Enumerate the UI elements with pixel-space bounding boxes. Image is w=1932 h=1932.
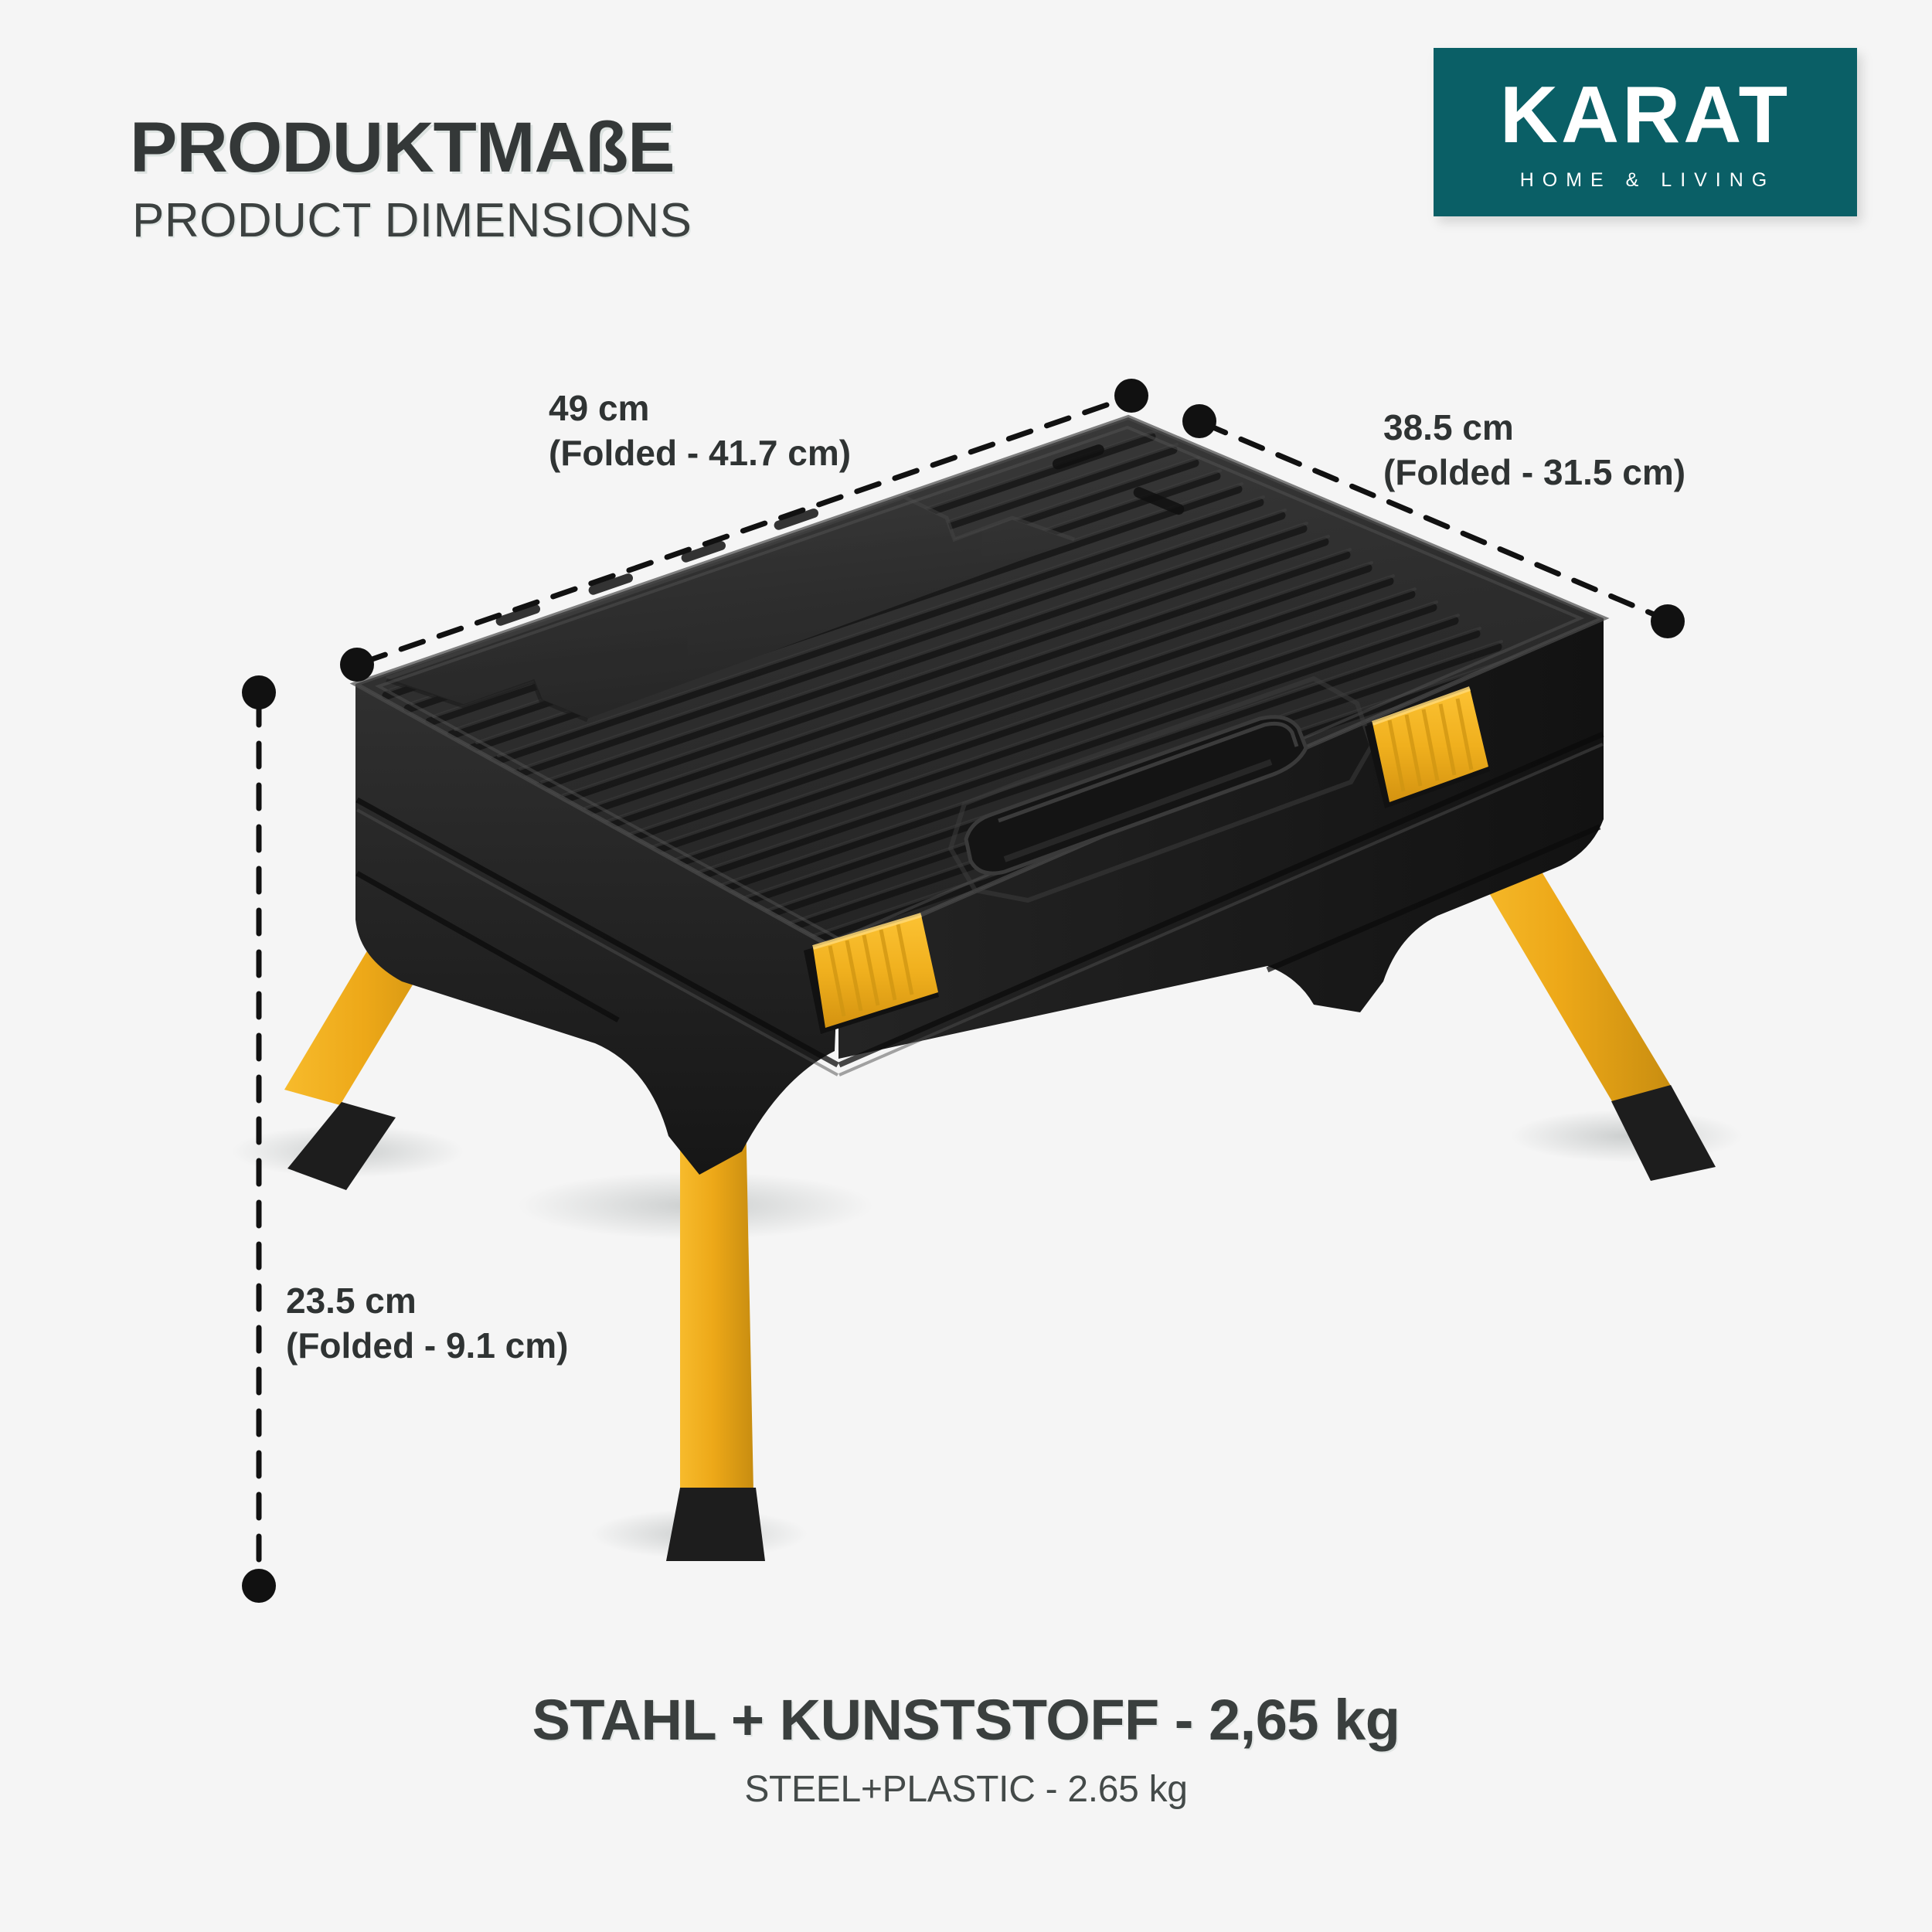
dimension-endpoint-dot: [340, 648, 374, 682]
material-english: STEEL+PLASTIC - 2.65 kg: [0, 1770, 1932, 1811]
top-platform: [355, 417, 1604, 951]
dimension-depth-value: 38.5 cm: [1383, 406, 1685, 451]
dimension-depth-folded: (Folded - 31.5 cm): [1383, 451, 1685, 495]
title-german: PRODUKTMAßE: [130, 112, 692, 183]
dimension-label-height: 23.5 cm (Folded - 9.1 cm): [286, 1279, 568, 1368]
dimension-endpoint-dot: [242, 1569, 276, 1603]
floor-shadow-right: [1511, 1110, 1743, 1162]
top-smooth-panel: [386, 498, 1074, 719]
dimension-height-folded: (Folded - 9.1 cm): [286, 1324, 568, 1369]
brand-name: KARAT: [1500, 75, 1791, 155]
infographic-canvas: PRODUKTMAßE PRODUCT DIMENSIONS KARAT HOM…: [0, 0, 1932, 1932]
dimension-endpoint-dot: [242, 675, 276, 709]
dimension-label-width: 49 cm (Folded - 41.7 cm): [549, 386, 851, 475]
header: PRODUKTMAßE PRODUCT DIMENSIONS KARAT HOM…: [0, 0, 1932, 255]
product-illustration: [0, 0, 1932, 1932]
body-side-face: [838, 618, 1604, 1059]
dimension-label-depth: 38.5 cm (Folded - 31.5 cm): [1383, 406, 1685, 495]
material-german: STAHL + KUNSTSTOFF - 2,65 kg: [0, 1689, 1932, 1751]
latch-front[interactable]: [804, 915, 939, 1034]
footer: STAHL + KUNSTSTOFF - 2,65 kg STEEL+PLAST…: [0, 1689, 1932, 1811]
body-seams: [357, 734, 1603, 1065]
dimension-endpoint-dot: [1114, 379, 1148, 413]
dimension-line-height: [242, 675, 276, 1603]
floor-shadow-center: [518, 1172, 873, 1240]
leg-rear-left: [666, 923, 765, 1561]
page-title: PRODUKTMAßE PRODUCT DIMENSIONS: [130, 112, 692, 245]
dimension-width-folded: (Folded - 41.7 cm): [549, 431, 851, 476]
floor-shadow-back: [591, 1509, 808, 1559]
dimension-endpoint-dot: [1651, 604, 1685, 638]
brand-logo: KARAT HOME & LIVING: [1434, 48, 1857, 216]
brand-tagline: HOME & LIVING: [1520, 171, 1776, 190]
body-seam-highlights: [357, 744, 1603, 1075]
dimension-height-value: 23.5 cm: [286, 1279, 568, 1324]
dimension-endpoint-dot: [1182, 404, 1216, 438]
top-platform-ribs: [386, 431, 1566, 945]
leg-front-left: [284, 893, 464, 1190]
handle-cutout: [951, 679, 1372, 900]
title-english: PRODUCT DIMENSIONS: [132, 197, 692, 245]
body-front-face: [355, 684, 838, 1175]
floor-shadow-left: [232, 1125, 464, 1178]
dimension-width-value: 49 cm: [549, 386, 851, 431]
leg-front-right: [1468, 842, 1716, 1181]
latch-right[interactable]: [1365, 689, 1490, 808]
